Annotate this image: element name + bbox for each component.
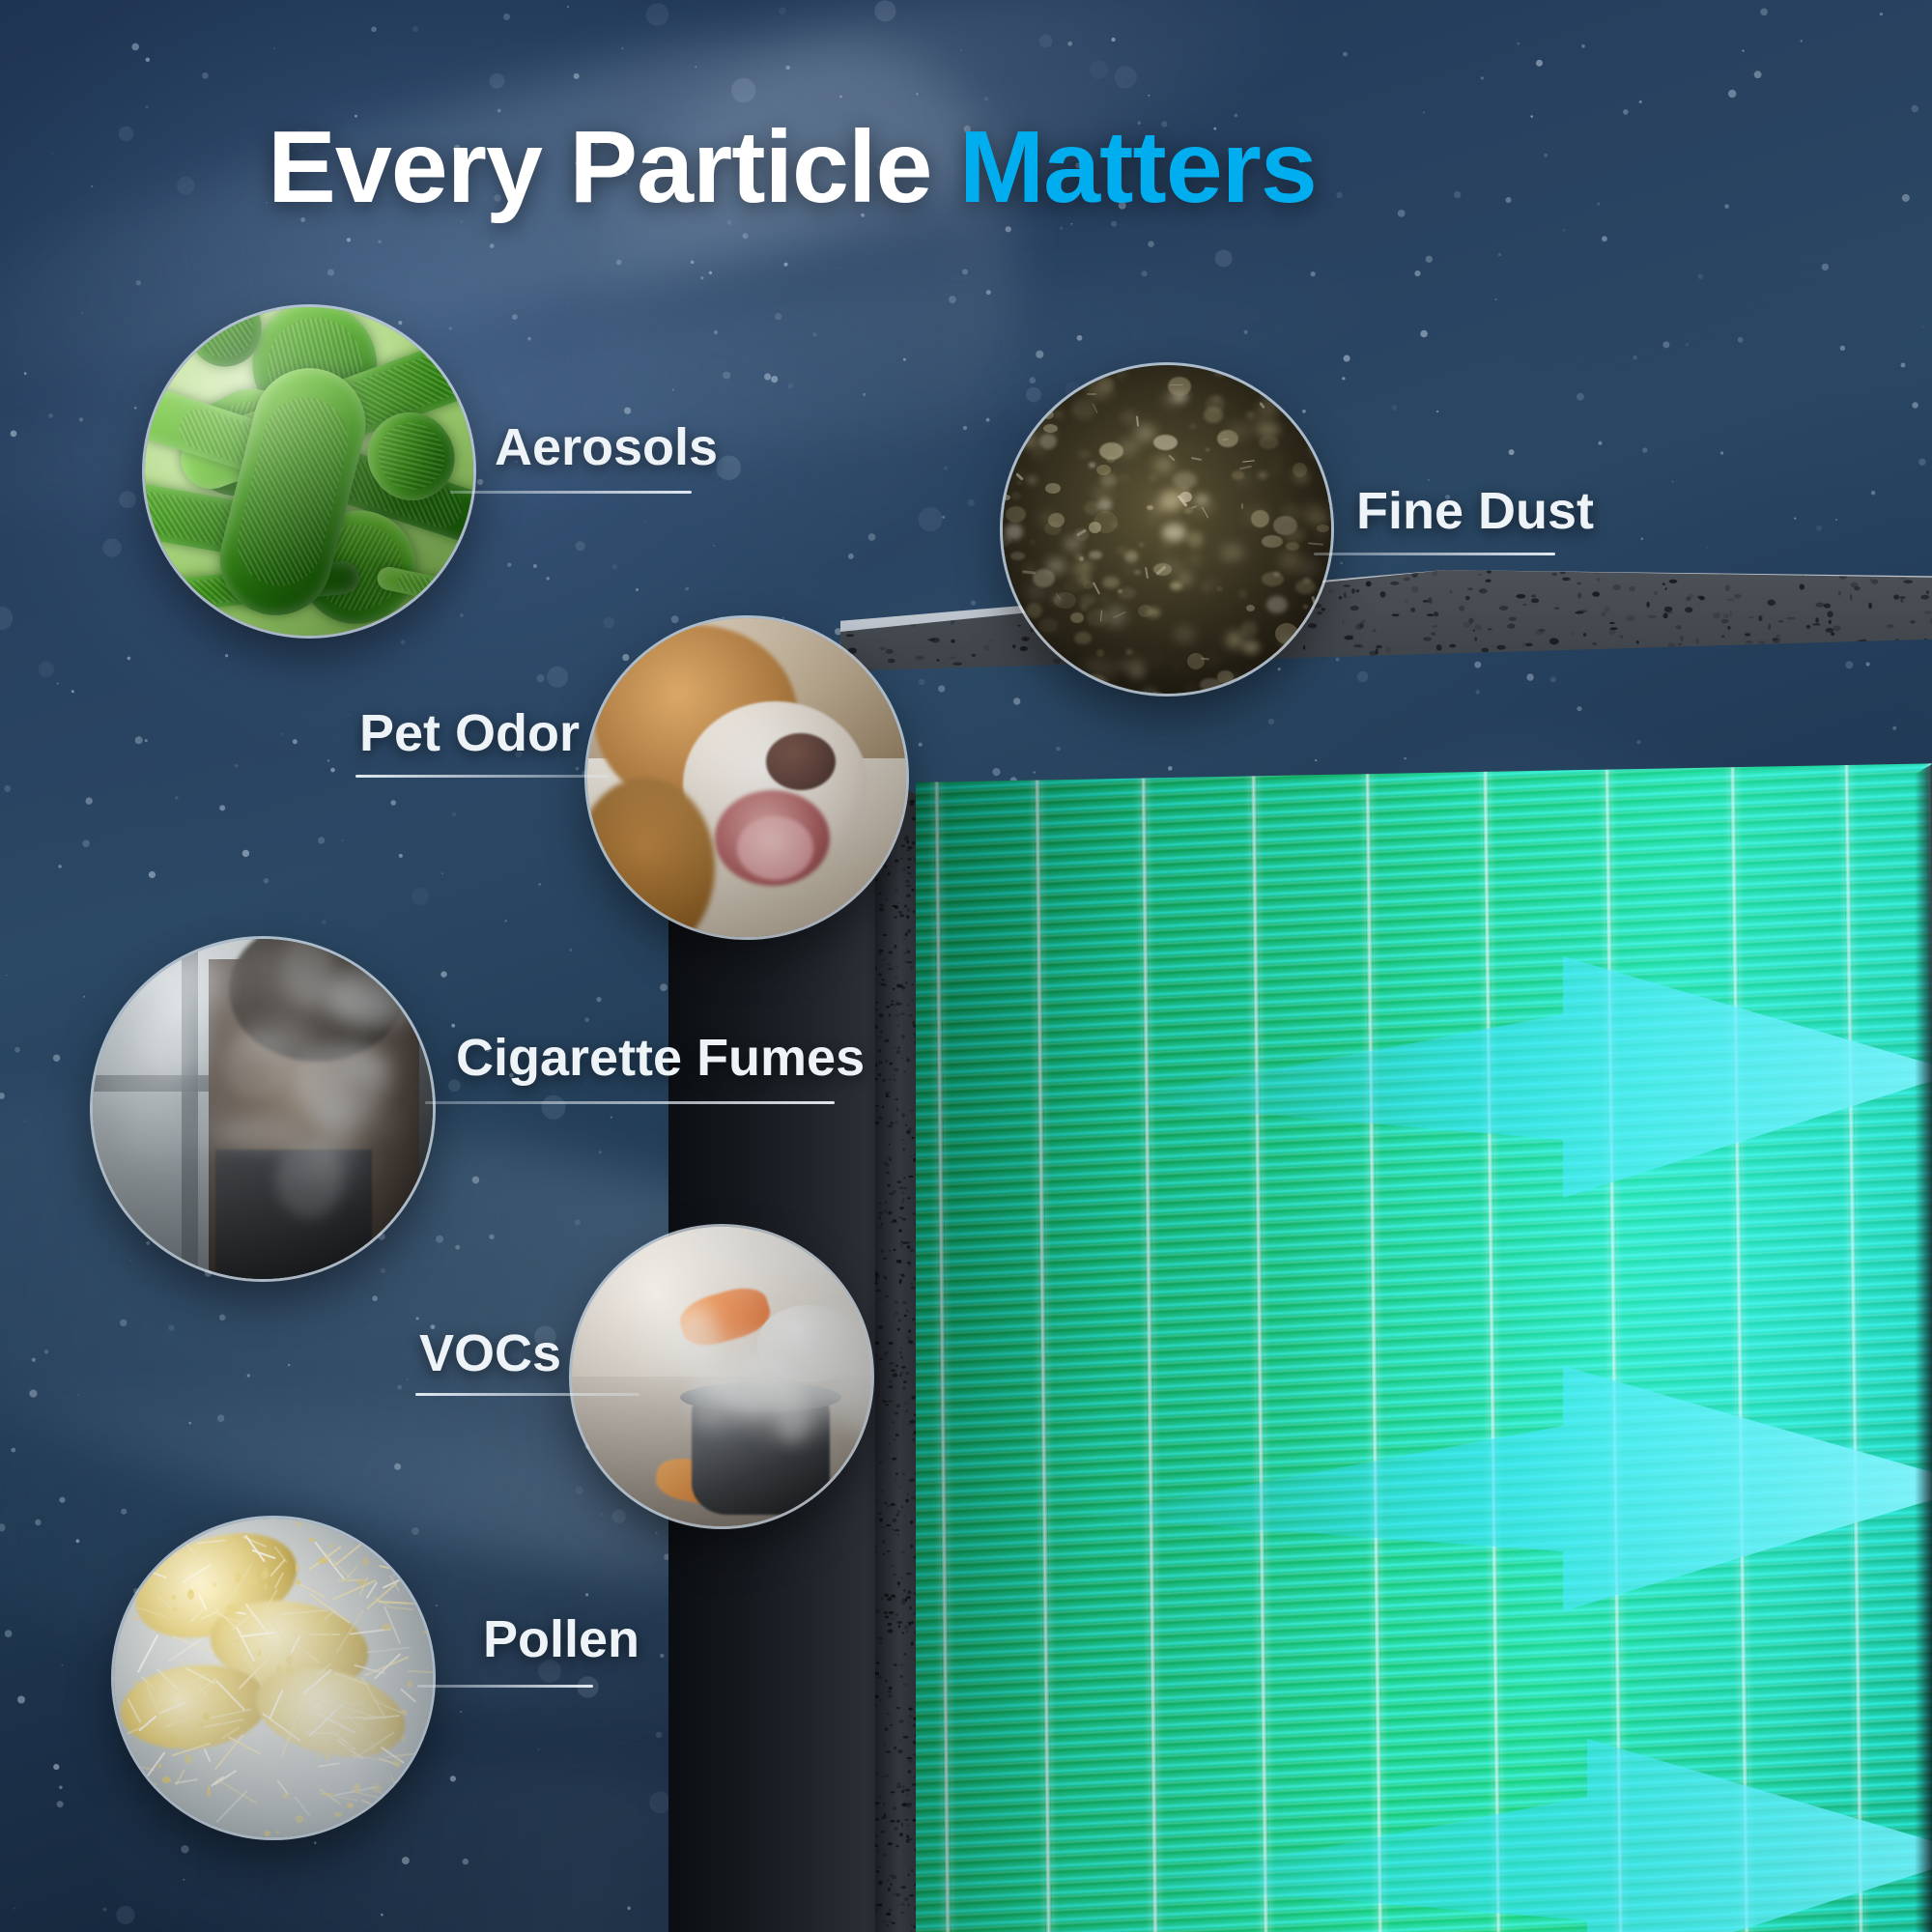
fine-dust-label: Fine Dust <box>1356 481 1594 541</box>
filter-right-edge <box>1915 750 1932 1932</box>
filter-shading <box>916 763 1932 1932</box>
page-title-part-1: Every Particle <box>268 110 959 224</box>
pet-odor-rule <box>355 775 609 778</box>
aerosols-image <box>145 307 473 636</box>
vocs-label: VOCs <box>419 1323 561 1383</box>
page-title: Every Particle Matters <box>0 116 1584 218</box>
fine-dust-rule <box>1314 553 1555 555</box>
vocs-image <box>572 1227 871 1526</box>
page-title-accent: Matters <box>959 110 1317 224</box>
cigarette-rule <box>425 1101 835 1104</box>
air-filter-product <box>840 570 1932 1932</box>
aerosols-label: Aerosols <box>495 417 718 477</box>
cigarette-image <box>93 939 433 1279</box>
fine-dust-image <box>1003 365 1331 694</box>
pollen-image <box>114 1519 433 1837</box>
filter-pleated-media <box>916 763 1932 1932</box>
pollen-label: Pollen <box>483 1609 639 1669</box>
pet-odor-label: Pet Odor <box>359 703 580 763</box>
pet-odor-image <box>587 618 906 937</box>
aerosols-rule <box>450 491 692 494</box>
marketing-hero: Every Particle Matters <box>0 0 1932 1932</box>
vocs-rule <box>415 1393 639 1396</box>
pollen-rule <box>417 1685 593 1688</box>
cigarette-label: Cigarette Fumes <box>456 1028 865 1088</box>
